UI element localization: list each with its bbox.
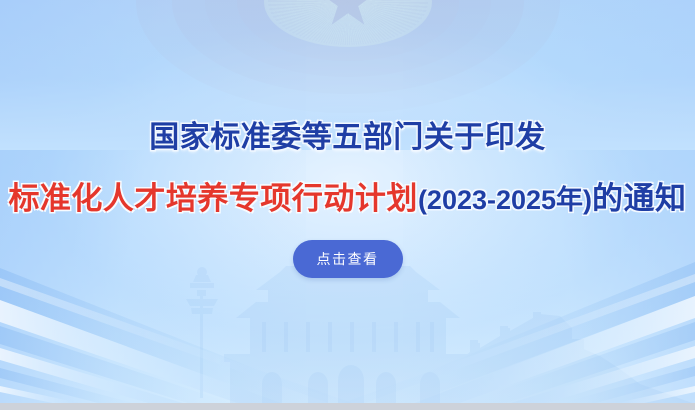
banner-title-line-1: 国家标准委等五部门关于印发	[0, 119, 695, 157]
banner-title-period: (2023-2025年)	[418, 185, 592, 215]
policy-banner: 国家标准委等五部门关于印发 标准化人才培养专项行动计划(2023-2025年)的…	[0, 0, 695, 410]
view-details-button[interactable]: 点击查看	[293, 240, 403, 278]
banner-content: 国家标准委等五部门关于印发 标准化人才培养专项行动计划(2023-2025年)的…	[0, 0, 695, 410]
cta-container: 点击查看	[0, 240, 695, 278]
footer-strip	[0, 403, 695, 410]
banner-title-plan-name: 标准化人才培养专项行动计划	[8, 181, 418, 216]
banner-title-suffix: 的通知	[592, 181, 687, 216]
banner-title-line-2: 标准化人才培养专项行动计划(2023-2025年)的通知	[0, 178, 695, 221]
